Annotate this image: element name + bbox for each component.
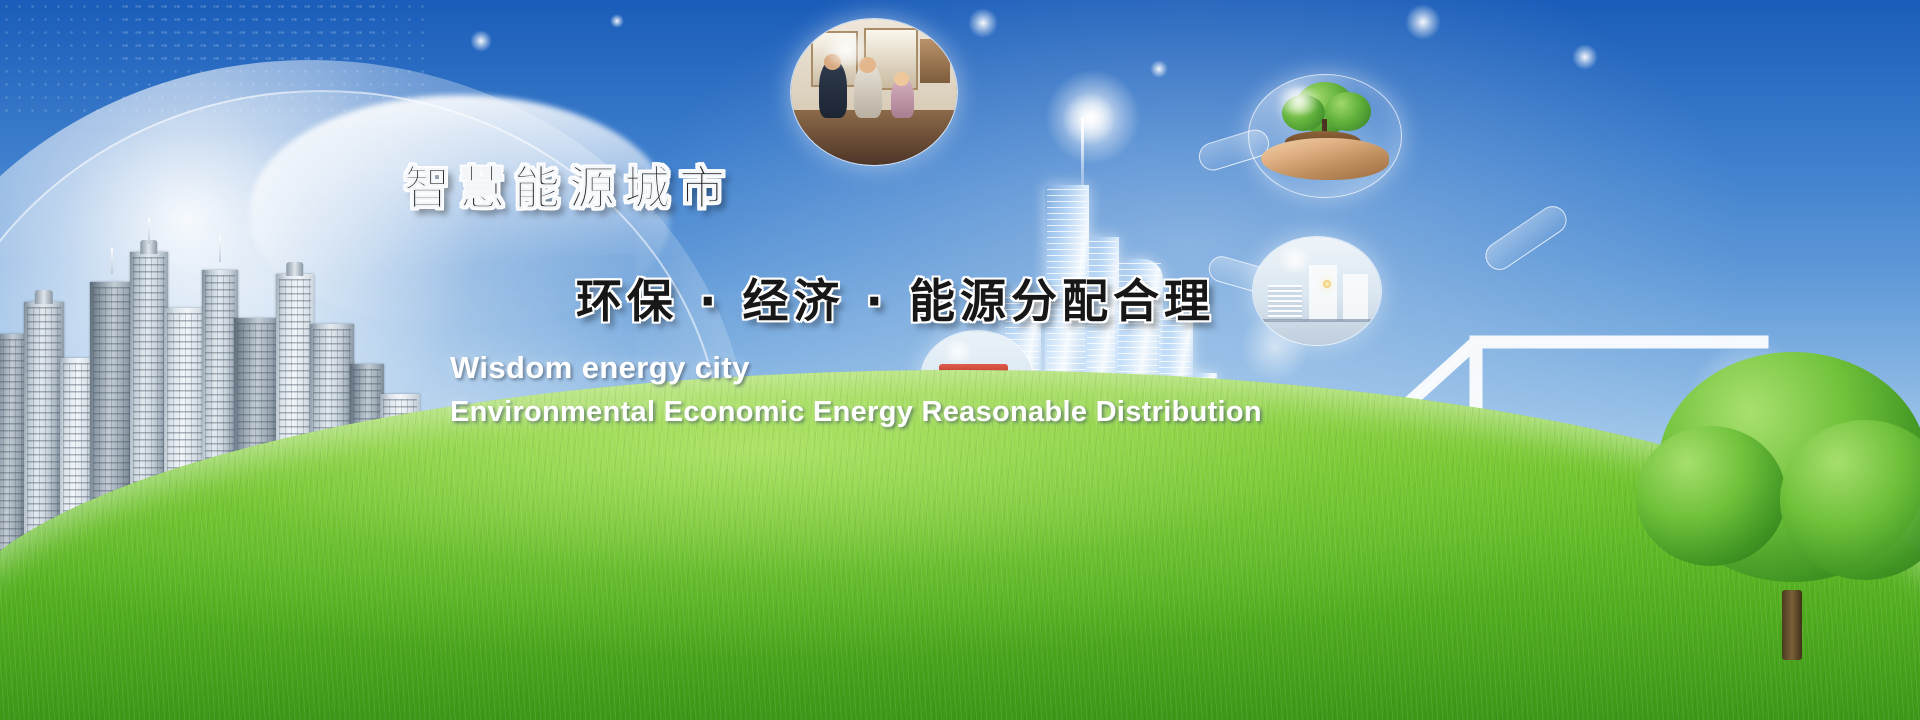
sky-sparkle-1: [470, 30, 492, 52]
tree-bubble-content: [1249, 75, 1401, 197]
sky-sparkle-3: [968, 8, 998, 38]
sky-sparkle-5: [1405, 4, 1441, 40]
tower-flare: [1045, 69, 1141, 165]
hands-cupped: [1261, 138, 1389, 179]
tower-spire: [1081, 117, 1084, 187]
sky-sparkle-4: [1150, 60, 1168, 78]
staircase: [1268, 285, 1301, 322]
tree-trunk: [1782, 590, 1802, 660]
floor-line: [1261, 319, 1371, 322]
family-bubble-content: [791, 19, 957, 165]
tree-in-hands-bubble: [1248, 74, 1402, 198]
tree-foliage: [1325, 92, 1371, 131]
shelf: [920, 39, 950, 83]
family-scene: [791, 19, 957, 165]
bubble-highlight: [818, 34, 874, 66]
energy-city-banner: 智慧能源城市 环保 · 经济 · 能源分配合理 Wisdom energy ci…: [0, 0, 1920, 720]
sky-sparkle-2: [610, 14, 624, 28]
bubble-highlight: [1273, 248, 1317, 272]
bubble-highlight: [939, 341, 977, 362]
interior-wall: [1343, 274, 1369, 322]
sky-sparkle-6: [1572, 44, 1598, 70]
interior-bubble-content: [1253, 237, 1381, 345]
bubble-highlight: [1273, 87, 1325, 114]
tree-crown: [1636, 426, 1786, 566]
sky-dot-texture-2: [120, 0, 380, 60]
bubble-connector-house: [1480, 201, 1572, 276]
interior-bubble: [1252, 236, 1382, 346]
green-tree: [1630, 330, 1920, 660]
interior-wall: [1309, 265, 1337, 321]
family-bubble: [790, 18, 958, 166]
person-head: [894, 72, 909, 87]
